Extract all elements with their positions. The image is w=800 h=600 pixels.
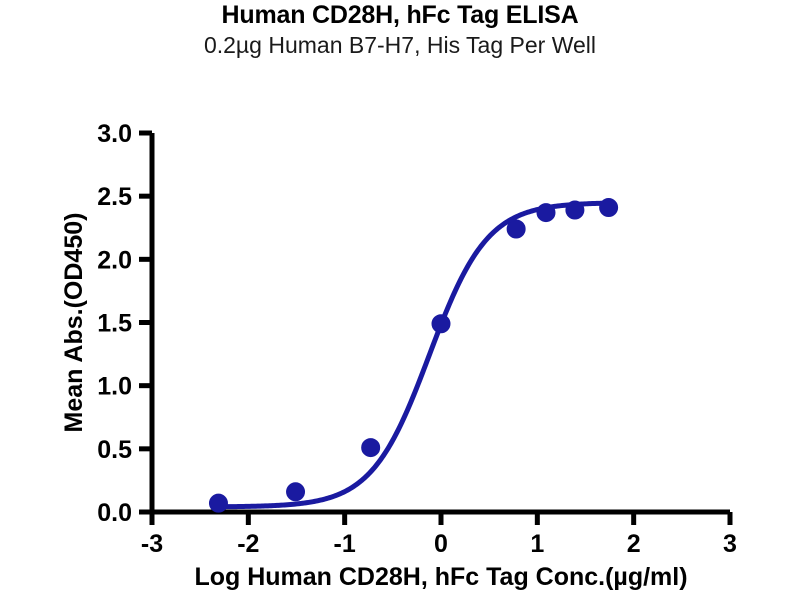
data-point-marker: [566, 201, 584, 219]
y-tick-label: 2.5: [97, 183, 132, 211]
fit-curve-line: [218, 203, 608, 507]
data-point-marker: [507, 220, 525, 238]
data-point-marker: [600, 199, 618, 217]
chart-figure: Human CD28H, hFc Tag ELISA 0.2µg Human B…: [0, 0, 800, 600]
data-point-marker: [537, 204, 555, 222]
data-point-marker: [287, 483, 305, 501]
fit-curve: [218, 203, 608, 507]
y-axis: 0.00.51.01.52.02.53.0: [97, 120, 152, 527]
y-tick-label: 0.0: [97, 499, 132, 527]
data-point-marker: [209, 494, 227, 512]
data-points: [209, 199, 617, 513]
plot-area: 0.00.51.01.52.02.53.0 -3-2-10123 Log Hum…: [0, 0, 800, 600]
x-tick-label: 3: [723, 530, 737, 558]
x-tick-label: -3: [141, 530, 163, 558]
x-tick-label: -2: [237, 530, 259, 558]
y-tick-label: 3.0: [97, 120, 132, 148]
y-tick-label: 2.0: [97, 246, 132, 274]
x-tick-label: 1: [530, 530, 544, 558]
y-axis-title: Mean Abs.(OD450): [60, 213, 88, 433]
x-tick-label: 0: [434, 530, 448, 558]
y-tick-label: 0.5: [97, 436, 132, 464]
data-point-marker: [432, 315, 450, 333]
x-tick-label: 2: [627, 530, 641, 558]
y-tick-label: 1.5: [97, 310, 132, 338]
x-axis: -3-2-10123: [141, 512, 737, 558]
y-tick-label: 1.0: [97, 373, 132, 401]
x-tick-label: -1: [334, 530, 356, 558]
data-point-marker: [362, 439, 380, 457]
x-axis-title: Log Human CD28H, hFc Tag Conc.(µg/ml): [194, 563, 687, 591]
